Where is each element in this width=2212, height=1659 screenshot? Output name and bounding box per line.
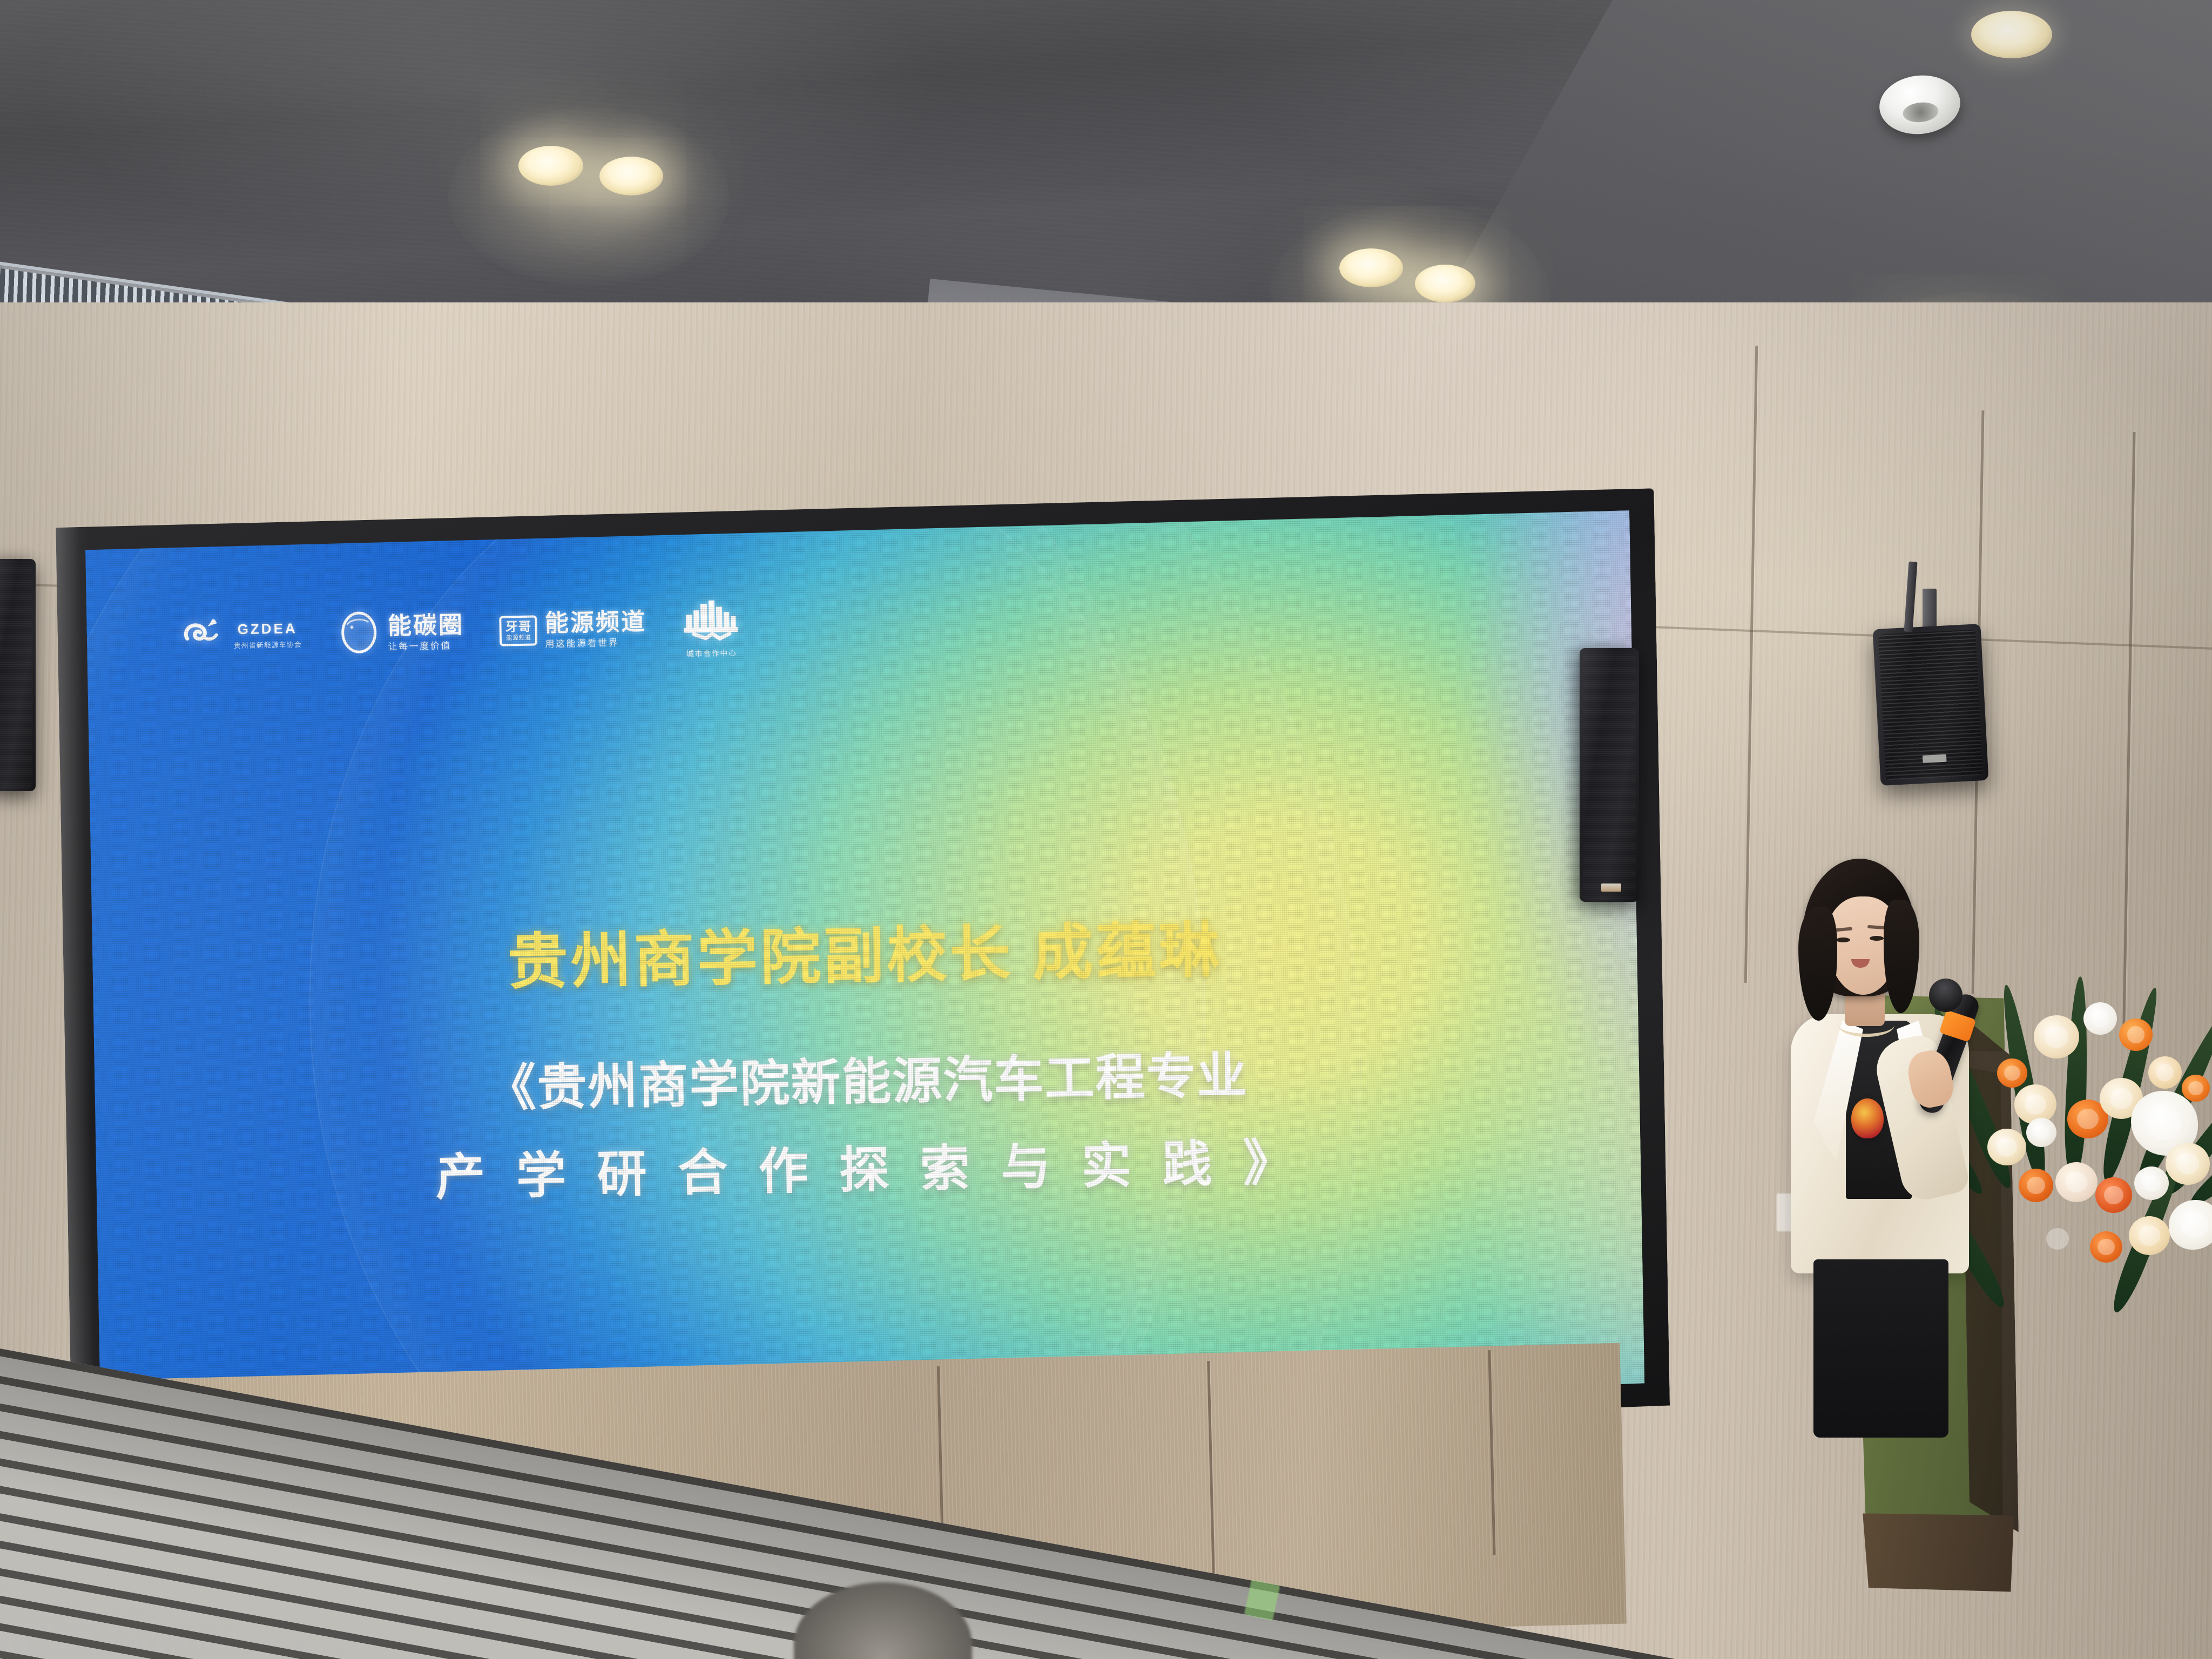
downlight-2 (599, 157, 663, 195)
rose-cream (2034, 1015, 2079, 1058)
rose-peach (2129, 1216, 2170, 1255)
speaker-label (1601, 884, 1621, 892)
rose-orange (2119, 1019, 2153, 1051)
downlight-1 (518, 146, 583, 186)
rose-orange (2095, 1177, 2132, 1213)
led-video-wall[interactable]: GZDEA 贵州省新能源车协会 能碳 (56, 488, 1670, 1466)
presenter-hair-side-right (1884, 900, 1919, 1013)
lily-white (2169, 1200, 2212, 1250)
presenter (1782, 859, 2036, 1512)
rose-white (2134, 1166, 2169, 1200)
speaker-brand-logo (1923, 754, 1947, 763)
hanging-pa-speaker (1873, 624, 1989, 786)
column-speaker-left (0, 559, 36, 791)
presenter-eye-left (1836, 938, 1850, 942)
downlight-4 (1415, 265, 1475, 302)
rose-cream (2036, 1218, 2079, 1259)
speaker-grille (0, 562, 32, 788)
rose-peach (2148, 1056, 2182, 1089)
speaker-mount-bracket (1923, 589, 1937, 632)
rose-orange (2182, 1075, 2210, 1102)
presenter-skirt (1813, 1259, 1948, 1438)
rose-cream (2055, 1162, 2098, 1202)
rose-orange (2090, 1231, 2122, 1263)
presenter-eye-right (1870, 936, 1884, 941)
screen-display-area: GZDEA 贵州省新能源车协会 能碳 (85, 510, 1645, 1439)
palm-leaf (2063, 976, 2090, 1179)
led-pixel-grid (85, 510, 1645, 1439)
podium-base (1863, 1510, 2015, 1594)
downlight-7 (1971, 11, 2052, 58)
presenter-hair-side-left (1798, 907, 1837, 1021)
column-speaker-right (1580, 648, 1639, 902)
rose-white (2083, 1002, 2117, 1035)
scene-root: GZDEA 贵州省新能源车协会 能碳 (0, 0, 2212, 1659)
downlight-3 (1339, 248, 1403, 287)
rose-cream (2166, 1143, 2210, 1185)
speaker-grille (1583, 651, 1636, 899)
necklace (1838, 1013, 1894, 1037)
corsage-flower (1851, 1098, 1884, 1138)
